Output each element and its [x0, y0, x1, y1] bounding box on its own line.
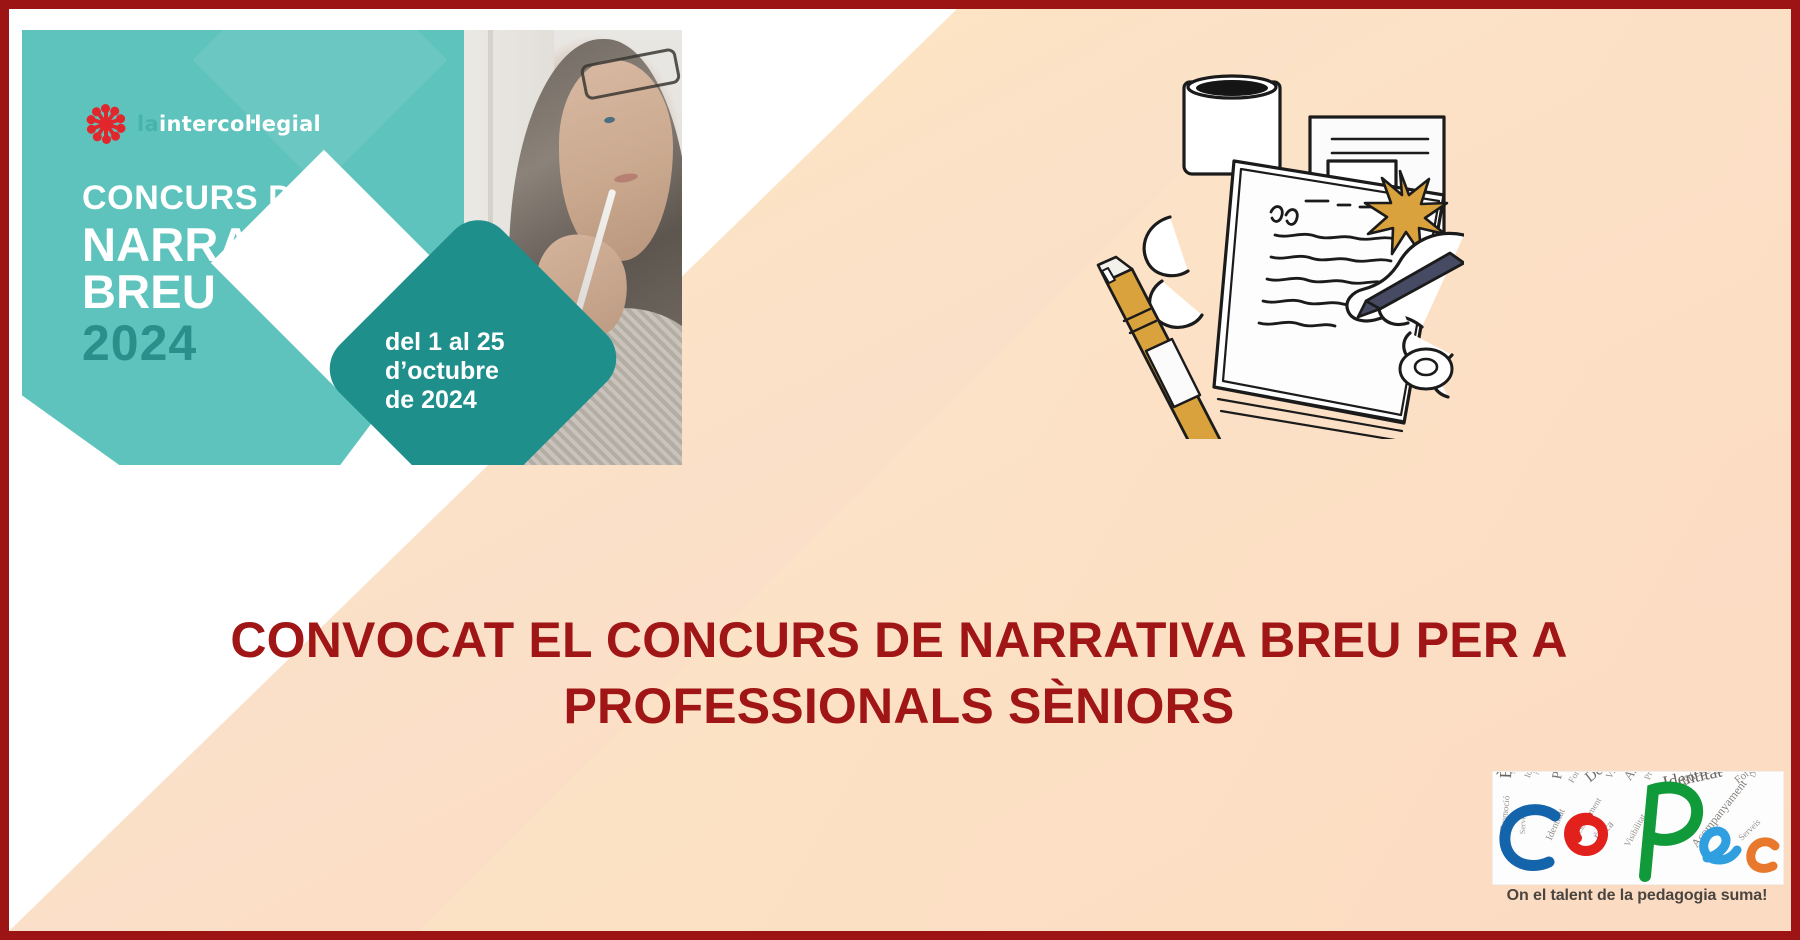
poster-kicker: CONCURS DE — [82, 181, 317, 215]
logo-prefix: la — [137, 112, 159, 136]
intercollegial-logo-text: laintercoŀlegial — [137, 112, 321, 136]
poster-dates-line2: d’octubre — [385, 357, 505, 386]
headline-line-2: PROFESSIONALS SÈNIORS — [69, 673, 1729, 739]
poster-dates-line3: de 2024 — [385, 386, 505, 415]
poster-year: 2024 — [82, 318, 197, 368]
intercollegial-logo: laintercoŀlegial — [82, 102, 321, 146]
asterisk-star-icon — [82, 102, 126, 146]
poster-dates-line1: del 1 al 25 — [385, 328, 505, 357]
poster-title-line2: BREU — [82, 269, 354, 316]
copec-tagline: On el talent de la pedagogia suma! — [1492, 887, 1782, 905]
poster-title-line1: NARRATIVA — [82, 222, 354, 269]
copec-logo: ServeisAcompanyamentVisibilitatÈticaAsse… — [1492, 771, 1792, 921]
contest-poster-image: laintercoŀlegial CONCURS DE NARRATIVA BR… — [22, 30, 682, 465]
poster-banner: laintercoŀlegial CONCURS DE NARRATIVA BR… — [0, 0, 1800, 940]
poster-dates-badge: del 1 al 25 d’octubre de 2024 — [385, 328, 505, 415]
poster-title: NARRATIVA BREU — [82, 222, 354, 315]
headline-line-1: CONVOCAT EL CONCURS DE NARRATIVA BREU PE… — [69, 607, 1729, 673]
copec-wordmark-icon — [1493, 772, 1783, 884]
copec-word-cloud: ServeisAcompanyamentVisibilitatÈticaAsse… — [1492, 771, 1784, 885]
logo-name: intercoŀlegial — [159, 112, 321, 136]
coffee-mug-icon — [1184, 76, 1280, 174]
washi-tape-roll-icon — [1400, 349, 1452, 389]
page-headline: CONVOCAT EL CONCURS DE NARRATIVA BREU PE… — [69, 607, 1729, 739]
hand-writing-in-notebook-illustration — [994, 49, 1464, 439]
